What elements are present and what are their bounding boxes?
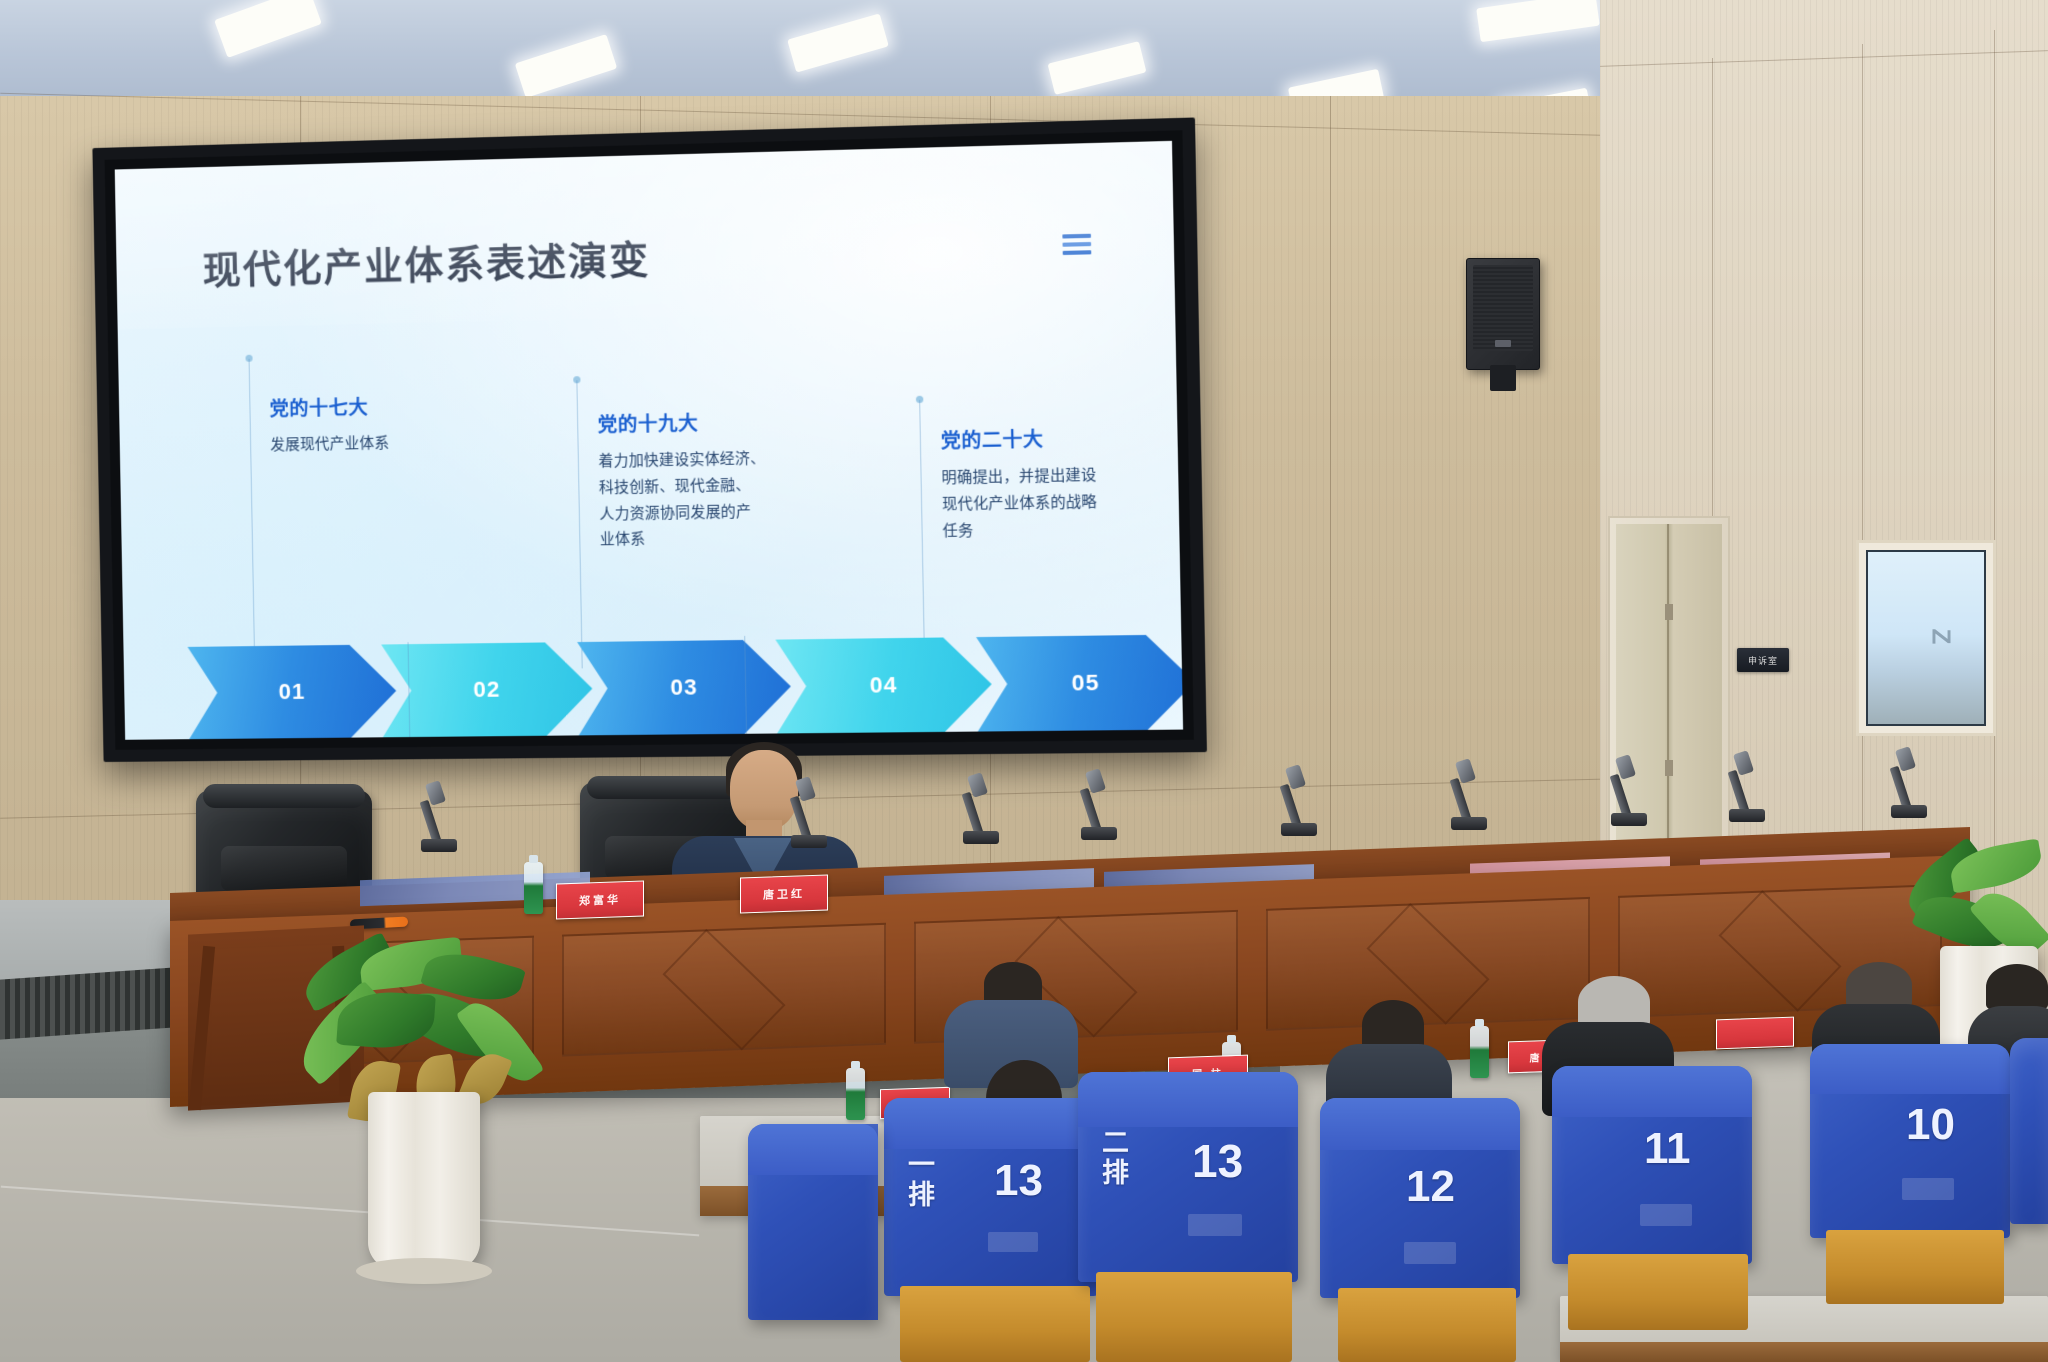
arrow-step-03: 03: [577, 639, 792, 735]
arrow-step-05: 05: [976, 634, 1183, 731]
name-card: 郑富华: [556, 880, 644, 919]
seat-pocket: [1188, 1214, 1242, 1236]
seat-base-wood: [1338, 1288, 1516, 1362]
window-marking: Z: [1925, 628, 1956, 644]
seat-number: 10: [1906, 1100, 1955, 1150]
arrow-step-04: 04: [775, 637, 992, 734]
slide-title: 现代化产业体系表述演变: [202, 228, 651, 294]
arrow-number: 05: [1071, 670, 1100, 697]
timeline-node-05: 党的二十大 明确提出，并提出建设 现代化产业体系的战略 任务: [941, 422, 1170, 546]
seat-base-wood: [1826, 1230, 2004, 1304]
audience-hair: [1362, 1000, 1424, 1050]
seat-number: 11: [1644, 1124, 1691, 1174]
seat-number: 12: [1406, 1162, 1455, 1212]
node-body: 发展现代产业体系: [270, 430, 489, 460]
timeline-node-01: 党的十七大 发展现代产业体系: [269, 390, 488, 460]
node-heading: 党的二十大: [941, 422, 1169, 454]
audience-seat-partial-left[interactable]: [748, 1124, 878, 1320]
audience-seat-11[interactable]: 11: [1552, 1066, 1752, 1264]
conference-room-photo: 申诉室 Z 现代化产业体系表述演变 党的十七大 发展现代产业体系: [0, 0, 2048, 1362]
seat-row-label: 二排: [1094, 1128, 1133, 1188]
seat-pocket: [988, 1232, 1038, 1252]
projection-screen: 现代化产业体系表述演变 党的十七大 发展现代产业体系 党的十九大 着力加快建设实…: [92, 117, 1207, 762]
seat-cover-flap: [748, 1124, 878, 1175]
timeline-diagram: 党的十七大 发展现代产业体系 党的十九大 着力加快建设实体经济、 科技创新、现代…: [172, 348, 1140, 719]
seat-cover-flap: [1552, 1066, 1752, 1117]
audience-seat-12[interactable]: 12: [1320, 1098, 1520, 1298]
window-glass: Z: [1866, 550, 1986, 726]
seat-pocket: [1404, 1242, 1456, 1264]
arrow-number: 04: [870, 672, 898, 699]
door-hinge: [1665, 604, 1673, 620]
hamburger-menu-icon[interactable]: [1062, 234, 1091, 259]
ceiling-light: [1476, 0, 1600, 42]
timeline-node-03: 党的十九大 着力加快建设实体经济、 科技创新、现代金融、 人力资源协同发展的产 …: [597, 406, 822, 555]
ceiling-light: [214, 0, 322, 58]
table-panel: [562, 923, 886, 1057]
node-heading: 党的十九大: [597, 406, 820, 438]
speaker-bracket: [1490, 365, 1516, 391]
audience-hair: [1578, 976, 1650, 1028]
ceiling-light: [1048, 41, 1147, 95]
ceiling-light: [515, 34, 617, 98]
name-card: [1716, 1017, 1794, 1050]
water-bottle: [1470, 1026, 1489, 1078]
arrow-sequence: 01 02 03 04 05: [188, 635, 1133, 739]
water-bottle: [524, 862, 543, 914]
wall-speaker: [1466, 258, 1540, 370]
seat-pocket: [1640, 1204, 1692, 1226]
chair-lumbar: [221, 846, 348, 890]
audience-seat-10[interactable]: 10: [1810, 1044, 2010, 1238]
seat-cover-flap: [884, 1098, 1098, 1149]
seat-cover-flap: [1078, 1072, 1298, 1127]
node-body: 明确提出，并提出建设 现代化产业体系的战略 任务: [941, 462, 1170, 545]
seat-base-wood: [900, 1286, 1090, 1362]
name-card: 唐卫红: [740, 874, 828, 913]
audience-hair: [1986, 964, 2048, 1010]
door-hinge: [1665, 760, 1673, 776]
seat-row-label: 一排: [900, 1150, 939, 1210]
seat-number: 13: [1192, 1134, 1243, 1188]
ceiling-light: [787, 13, 889, 72]
plant-saucer: [356, 1258, 492, 1284]
arrow-number: 01: [278, 679, 305, 705]
node-heading: 党的十七大: [269, 390, 488, 422]
seat-base-wood: [1096, 1272, 1292, 1362]
seat-pocket: [1902, 1178, 1954, 1200]
chair-headrest: [203, 784, 365, 808]
audience-seat-row1-13[interactable]: 一排 13: [884, 1098, 1098, 1296]
arrow-step-01: 01: [188, 644, 398, 739]
node-body: 着力加快建设实体经济、 科技创新、现代金融、 人力资源协同发展的产 业体系: [598, 446, 822, 555]
audience-seat-partial-right[interactable]: [2010, 1038, 2048, 1224]
presenter-head: [730, 750, 798, 830]
wall-window: Z: [1856, 540, 1996, 736]
audience-seat-row2-13[interactable]: 二排 13: [1078, 1072, 1298, 1282]
speaker-grille: [1473, 265, 1533, 351]
door-sign: 申诉室: [1737, 648, 1789, 672]
arrow-step-02: 02: [381, 642, 593, 737]
seat-base-wood: [1568, 1254, 1748, 1330]
arrow-number: 03: [670, 674, 698, 701]
seat-cover-flap: [1810, 1044, 2010, 1094]
audience-hair: [1846, 962, 1912, 1008]
table-panel-diamond: [662, 929, 785, 1051]
speaker-badge: [1495, 340, 1511, 347]
plant-pot: [368, 1092, 480, 1270]
water-bottle: [846, 1068, 865, 1120]
seat-cover-flap: [1320, 1098, 1520, 1150]
seat-number: 13: [994, 1156, 1043, 1206]
presentation-slide: 现代化产业体系表述演变 党的十七大 发展现代产业体系 党的十九大 着力加快建设实…: [115, 141, 1183, 740]
arrow-number: 02: [473, 676, 501, 703]
